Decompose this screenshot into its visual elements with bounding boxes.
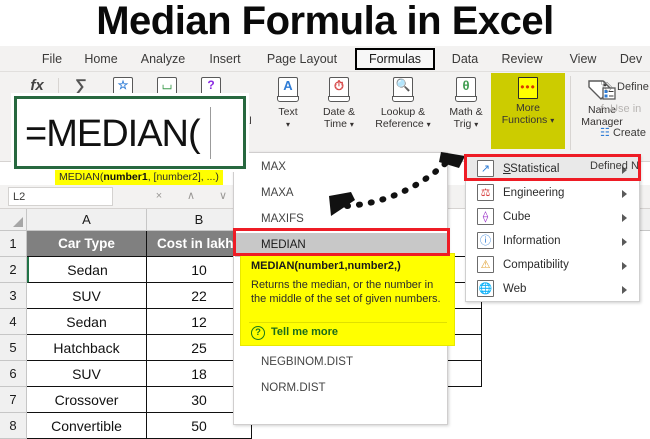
text-dropdown-caret[interactable]: ▾: [268, 119, 308, 131]
tag-icon: 🏷: [600, 81, 614, 93]
submenu-item-information[interactable]: ⓘ Information: [467, 229, 640, 253]
chevron-right-icon: [622, 190, 627, 198]
compatibility-icon: ⚠: [477, 256, 494, 273]
enter-formula-button[interactable]: ∧: [180, 187, 202, 206]
tooltip-divider: [249, 322, 447, 323]
tab-review[interactable]: Review: [494, 48, 550, 70]
use-in-formula-button[interactable]: 𝑓ₓ Use in: [600, 103, 641, 116]
table-row[interactable]: SUV: [27, 283, 147, 309]
page-title: Median Formula in Excel: [0, 0, 650, 44]
formula-text: =MEDIAN(: [25, 105, 200, 163]
column-header-a[interactable]: A: [27, 209, 147, 231]
cube-icon: ⟠: [477, 208, 494, 225]
tab-file[interactable]: File: [34, 48, 70, 70]
formula-input-box[interactable]: =MEDIAN(: [14, 96, 246, 169]
table-header-cell-a1[interactable]: Car Type: [27, 231, 147, 257]
text-icon: A: [279, 80, 297, 92]
cancel-formula-button[interactable]: ×: [148, 187, 170, 206]
tooltip-body: Returns the median, or the number in the…: [251, 278, 449, 306]
name-box[interactable]: L2: [8, 187, 113, 206]
ribbon-tab-bar: File Home Analyze Insert Page Layout For…: [0, 46, 650, 72]
select-all-corner[interactable]: [0, 209, 27, 231]
more-functions-button[interactable]: ••• More Functions ▾: [491, 77, 565, 126]
ribbon-separator-2: [570, 76, 571, 150]
collapse-formula-bar-button[interactable]: ∨: [212, 187, 234, 206]
lookup-reference-button[interactable]: 🔍 Lookup & Reference ▾: [370, 77, 436, 130]
tab-analyze[interactable]: Analyze: [132, 48, 194, 70]
submenu-item-compatibility[interactable]: ⚠ Compatibility: [467, 253, 640, 277]
define-name-button[interactable]: 🏷 Define: [600, 80, 649, 93]
tab-developer[interactable]: Dev: [612, 48, 650, 70]
row-header-6[interactable]: 6: [0, 361, 27, 387]
formula-argument-tooltip: MEDIAN(number1, [number2], ...): [55, 170, 223, 185]
theta-icon: θ: [457, 80, 475, 92]
chevron-right-icon: [622, 238, 627, 246]
row-header-2[interactable]: 2: [0, 257, 27, 283]
tab-view[interactable]: View: [562, 48, 604, 70]
table-row[interactable]: Hatchback: [27, 335, 147, 361]
category-submenu: ↗ SStatistical ⚖ Engineering ⟠ Cube ⓘ In…: [465, 155, 640, 302]
menu-item-negbinom-dist[interactable]: NEGBINOM.DIST: [235, 350, 448, 374]
function-description-tooltip: MEDIAN(number1,number2,) Returns the med…: [240, 253, 455, 346]
more-functions-dropdown-caret[interactable]: ▾: [550, 116, 554, 125]
create-from-selection-icon: ☷: [600, 127, 610, 139]
tab-insert[interactable]: Insert: [200, 48, 250, 70]
create-from-selection-button[interactable]: ☷ Create: [600, 126, 646, 139]
more-functions-icon: •••: [518, 77, 538, 99]
fx-icon: 𝑓ₓ: [600, 103, 607, 115]
chevron-right-icon: [622, 262, 627, 270]
chevron-right-icon: [622, 286, 627, 294]
date-time-dropdown-caret[interactable]: ▾: [350, 120, 354, 129]
table-row[interactable]: Crossover: [27, 387, 147, 413]
row-header-1[interactable]: 1: [0, 231, 27, 257]
menu-item-maxifs[interactable]: MAXIFS: [235, 207, 448, 231]
row-header-7[interactable]: 7: [0, 387, 27, 413]
tab-formulas[interactable]: Formulas: [355, 48, 435, 70]
web-icon: 🌐: [477, 280, 494, 297]
table-row[interactable]: SUV: [27, 361, 147, 387]
table-row[interactable]: Sedan: [27, 309, 147, 335]
math-dropdown-caret[interactable]: ▾: [474, 120, 478, 129]
statistical-icon: ↗: [477, 160, 494, 177]
row-header-3[interactable]: 3: [0, 283, 27, 309]
table-row[interactable]: Convertible: [27, 413, 147, 439]
defined-names-group-label: Defined N: [590, 160, 639, 172]
text-button[interactable]: A Text ▾: [268, 77, 308, 130]
row-header-4[interactable]: 4: [0, 309, 27, 335]
tab-home[interactable]: Home: [76, 48, 126, 70]
clock-icon: ⏱: [330, 80, 348, 92]
tooltip-signature: MEDIAN(number1,number2,): [251, 260, 401, 272]
submenu-item-web[interactable]: 🌐 Web: [467, 277, 640, 301]
magnifier-icon: 🔍: [394, 80, 412, 92]
row-header-8[interactable]: 8: [0, 413, 27, 439]
table-row[interactable]: Sedan: [27, 257, 147, 283]
submenu-item-engineering[interactable]: ⚖ Engineering: [467, 181, 640, 205]
text-cursor: [210, 107, 211, 159]
date-time-button[interactable]: ⏱ Date & Time ▾: [312, 77, 366, 130]
menu-item-maxa[interactable]: MAXA: [235, 181, 448, 205]
chevron-right-icon: [622, 214, 627, 222]
submenu-item-cube[interactable]: ⟠ Cube: [467, 205, 640, 229]
menu-item-norm-dist[interactable]: NORM.DIST: [235, 376, 448, 400]
information-icon: ⓘ: [477, 232, 494, 249]
menu-item-max[interactable]: MAX: [235, 155, 448, 179]
engineering-icon: ⚖: [477, 184, 494, 201]
tab-page-layout[interactable]: Page Layout: [258, 48, 346, 70]
question-circle-icon: ?: [251, 326, 265, 340]
row-header-5[interactable]: 5: [0, 335, 27, 361]
math-trig-button[interactable]: θ Math & Trig ▾: [440, 77, 492, 130]
tell-me-more-link[interactable]: Tell me more: [271, 326, 338, 338]
tab-data[interactable]: Data: [444, 48, 486, 70]
lookup-dropdown-caret[interactable]: ▾: [427, 120, 431, 129]
